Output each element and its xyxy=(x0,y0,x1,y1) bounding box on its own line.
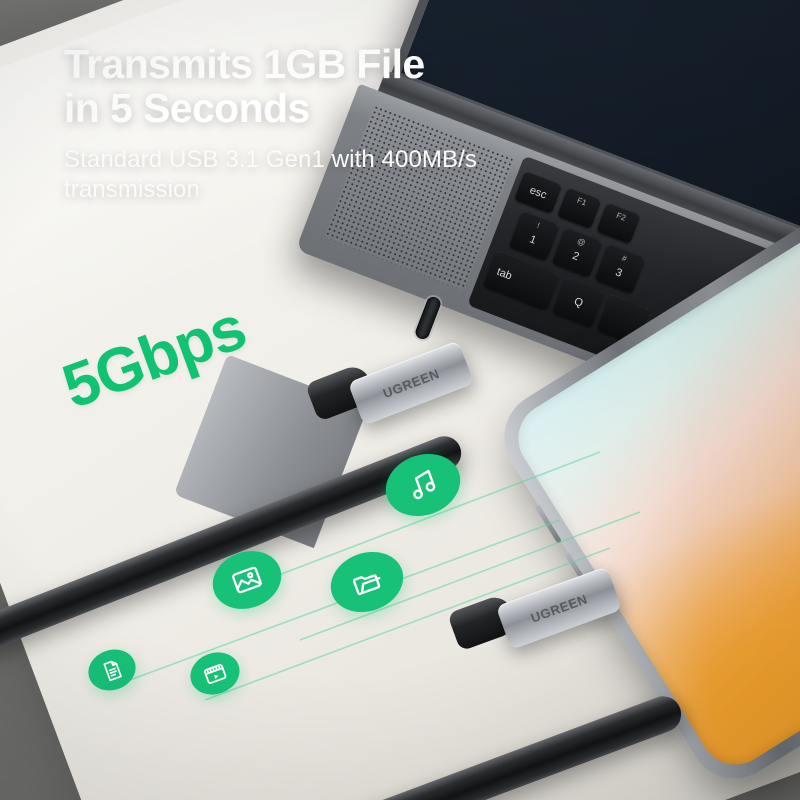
connector-brand-label: UGREEN xyxy=(381,365,442,400)
headline: Transmits 1GB File in 5 Seconds xyxy=(64,42,534,131)
key-3-label: 3 xyxy=(614,266,624,279)
folder-icon xyxy=(346,561,388,603)
key-f1[interactable]: F1 xyxy=(557,187,602,229)
key-1-sub: ! xyxy=(536,221,541,230)
key-2[interactable]: @ 2 xyxy=(552,227,603,278)
key-f2-label: F2 xyxy=(615,211,627,223)
key-2-sub: @ xyxy=(576,236,587,247)
key-f1-label: F1 xyxy=(576,196,588,208)
key-1[interactable]: ! 1 xyxy=(509,211,560,262)
subheadline: Standard USB 3.1 Gen1 with 400MB/s trans… xyxy=(64,145,534,206)
product-marketing-image: esc F1 F2 ! 1 @ 2 xyxy=(0,0,800,800)
key-3[interactable]: # 3 xyxy=(595,244,646,295)
key-tab-label: tab xyxy=(495,266,514,283)
marketing-copy: Transmits 1GB File in 5 Seconds Standard… xyxy=(64,42,534,206)
key-1-label: 1 xyxy=(528,233,538,246)
photo-icon xyxy=(226,559,267,600)
key-q[interactable]: Q xyxy=(552,276,605,327)
key-2-label: 2 xyxy=(571,249,581,262)
document-icon xyxy=(97,655,126,684)
connector-brand-label-2: UGREEN xyxy=(529,591,590,625)
key-3-sub: # xyxy=(621,254,628,264)
key-f2[interactable]: F2 xyxy=(596,202,641,244)
key-q-label: Q xyxy=(572,295,584,309)
music-note-icon xyxy=(401,463,445,507)
video-clapper-icon xyxy=(200,658,231,689)
